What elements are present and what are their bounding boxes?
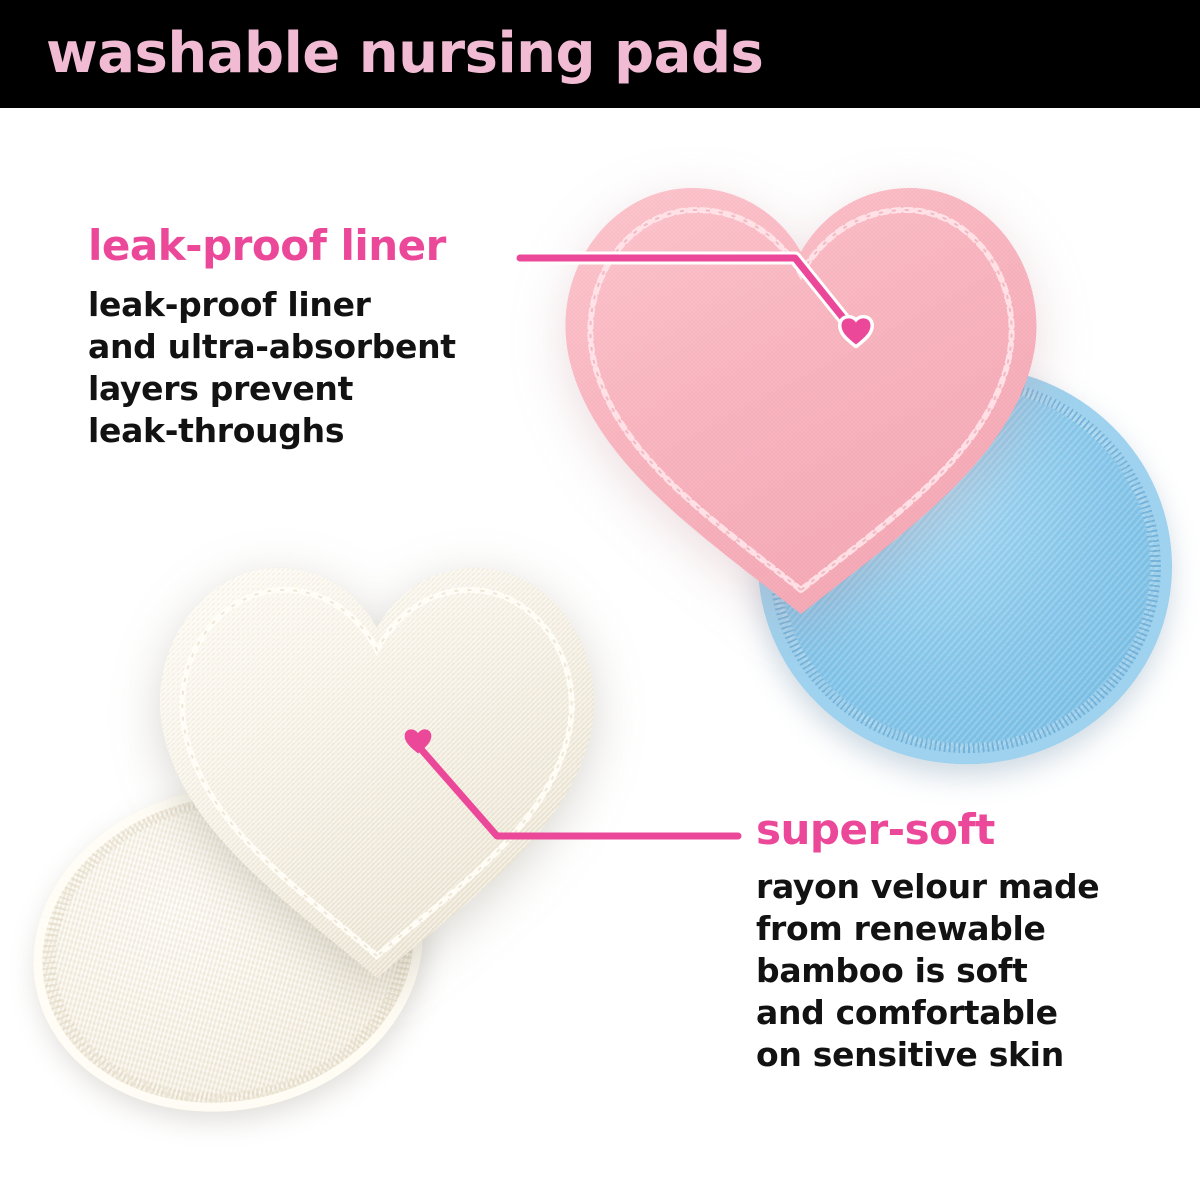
callout-leak-proof-liner-body: leak-proof liner and ultra-absorbent lay… [88, 284, 456, 452]
infographic-canvas: washable nursing pads [0, 0, 1200, 1200]
callout-leak-proof-liner: leak-proof liner leak-proof liner and ul… [88, 222, 456, 452]
callout-super-soft: super-soft rayon velour made from renewa… [756, 806, 1099, 1076]
page-title: washable nursing pads [46, 22, 763, 86]
callout-super-soft-title: super-soft [756, 806, 1099, 854]
callout-super-soft-body: rayon velour made from renewable bamboo … [756, 866, 1099, 1076]
callout-leak-proof-liner-title: leak-proof liner [88, 222, 456, 270]
cream-heart-pad [152, 548, 602, 988]
pink-heart-pad [556, 166, 1046, 626]
